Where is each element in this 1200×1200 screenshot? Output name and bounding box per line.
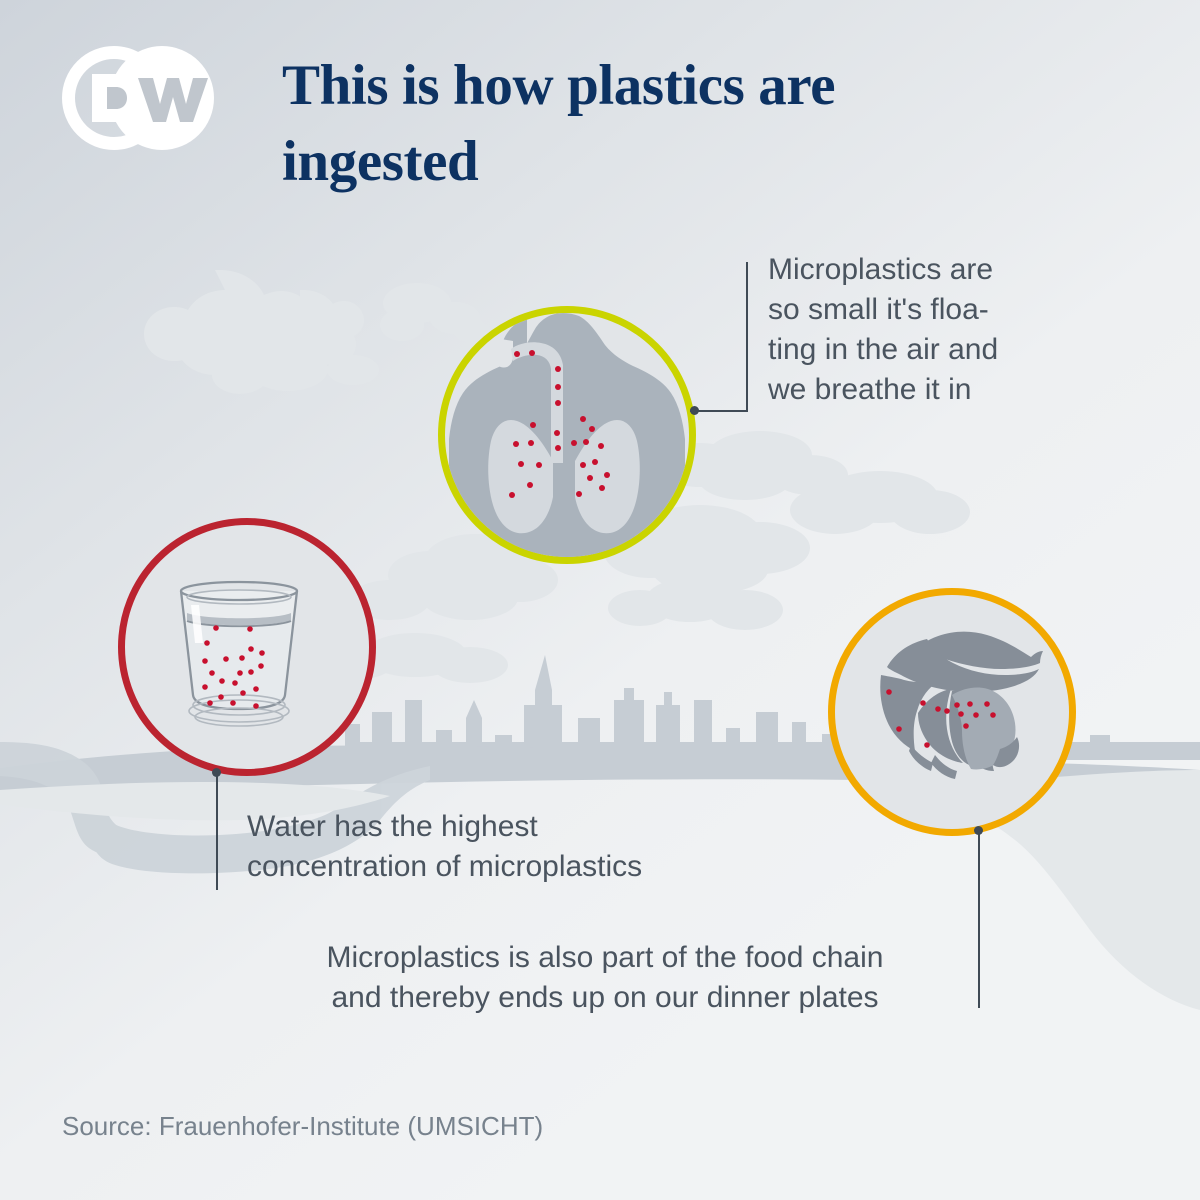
cloud-icon — [388, 551, 472, 599]
connector-line-vertical — [746, 262, 748, 412]
connector-line-horizontal — [690, 410, 748, 412]
cloud-icon — [327, 355, 379, 385]
cloud-icon — [422, 576, 518, 620]
face-notch — [492, 339, 513, 368]
cloud-icon — [707, 590, 783, 630]
cloud-icon — [258, 290, 364, 369]
cloud-icon — [363, 633, 467, 677]
water-glass-icon — [125, 525, 369, 769]
connector-line-vertical — [978, 830, 980, 1008]
cloud-icon — [144, 270, 311, 375]
cloud-icon — [646, 578, 734, 622]
cloud-icon — [790, 486, 880, 534]
cloud-icon — [708, 431, 812, 479]
connector-lungs — [690, 243, 760, 423]
cloud-icon — [608, 590, 672, 626]
logo-letter-d-counter — [107, 87, 127, 109]
page-title-line1: This is how plastics are — [282, 48, 1022, 124]
page-title-line2: ingested — [282, 124, 1022, 200]
caption-water: Water has the highest concentration of m… — [247, 807, 777, 887]
connector-shrimp — [974, 826, 986, 1016]
bubble-water[interactable] — [118, 518, 376, 776]
cloud-icon — [890, 490, 970, 534]
cloud-icon — [383, 283, 451, 323]
cloud-icon — [772, 455, 848, 495]
cloud-icon — [652, 546, 768, 594]
torso-silhouette — [449, 313, 685, 557]
caption-food: Microplastics is also part of the food c… — [250, 938, 960, 1018]
source-note: Source: Frauenhofer-Institute (UMSICHT) — [62, 1111, 543, 1142]
bubble-shrimp[interactable] — [828, 588, 1076, 836]
cloud-icon — [248, 347, 328, 391]
page-title: This is how plastics are ingested — [282, 48, 1022, 200]
cloud-icon — [380, 309, 424, 341]
lungs-torso-icon — [445, 313, 689, 557]
bubble-lungs[interactable] — [438, 306, 696, 564]
cloud-icon — [822, 471, 938, 523]
cloud-icon — [699, 460, 791, 500]
cloud-icon — [212, 356, 268, 394]
cloud-icon — [430, 302, 480, 334]
cloud-icon — [482, 558, 558, 602]
connector-line-vertical — [216, 772, 218, 890]
caption-air: Microplastics are so small it's floa- ti… — [768, 250, 1108, 410]
shrimp-icon — [835, 595, 1069, 829]
cloud-icon — [710, 522, 810, 574]
dw-logo[interactable] — [62, 46, 214, 150]
infographic-canvas: This is how plastics are ingested — [0, 0, 1200, 1200]
cloud-icon — [432, 647, 508, 683]
connector-water — [212, 768, 224, 898]
